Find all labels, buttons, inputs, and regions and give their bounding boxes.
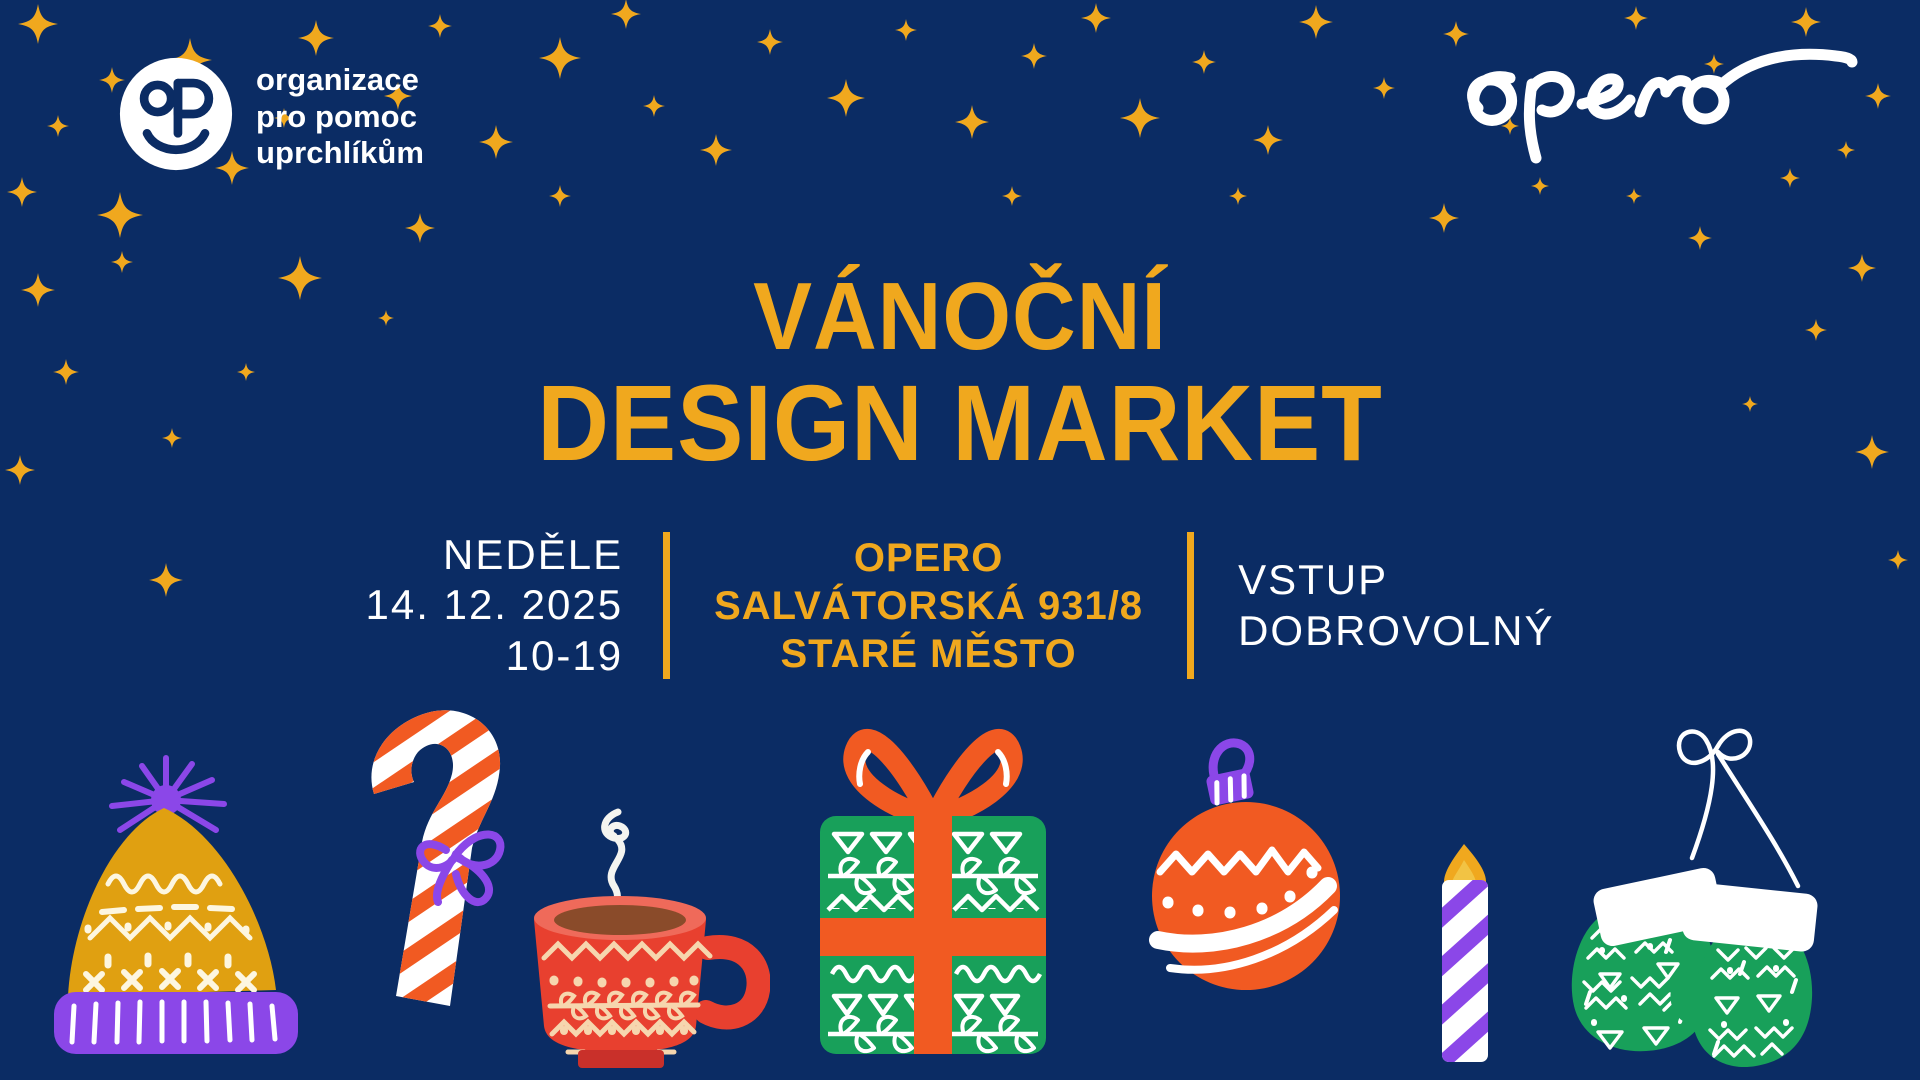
venue-street: SALVÁTORSKÁ 931/8 (714, 582, 1143, 630)
entry-value: DOBROVOLNÝ (1238, 606, 1554, 656)
poster-canvas: organizace pro pomoc uprchlíkům VÁNOČNÍ … (0, 0, 1920, 1080)
organization-logo-block: organizace pro pomoc uprchlíkům (118, 56, 424, 172)
divider-right (1187, 532, 1194, 679)
info-column-date: NEDĚLE 14. 12. 2025 10-19 (366, 530, 664, 681)
title-line-1: VÁNOČNÍ (77, 270, 1843, 364)
title-line-2: DESIGN MARKET (77, 370, 1843, 476)
info-column-entry: VSTUP DOBROVOLNÝ (1194, 530, 1554, 681)
organization-name: organizace pro pomoc uprchlíkům (256, 56, 424, 172)
entry-label: VSTUP (1238, 555, 1554, 605)
opero-wordmark-logo (1448, 26, 1868, 166)
mittens-pair-icon (1532, 710, 1872, 1070)
hot-drink-mug-icon (520, 800, 770, 1070)
divider-left (663, 532, 670, 679)
knitted-beanie-hat-icon (46, 752, 306, 1062)
venue-name: OPERO (714, 534, 1143, 582)
op-circle-logo-icon (118, 56, 234, 172)
candy-cane-icon (368, 690, 528, 1020)
date-day: NEDĚLE (366, 530, 624, 580)
date-value: 14. 12. 2025 (366, 580, 624, 630)
christmas-ornament-icon (1142, 730, 1342, 1020)
gift-box-icon (798, 712, 1068, 1062)
illustration-row (0, 660, 1920, 1080)
candle-icon (1420, 834, 1540, 1064)
main-title: VÁNOČNÍ DESIGN MARKET (0, 270, 1920, 476)
info-column-place: OPERO SALVÁTORSKÁ 931/8 STARÉ MĚSTO (670, 530, 1187, 681)
event-info-row: NEDĚLE 14. 12. 2025 10-19 OPERO SALVÁTOR… (0, 530, 1920, 681)
